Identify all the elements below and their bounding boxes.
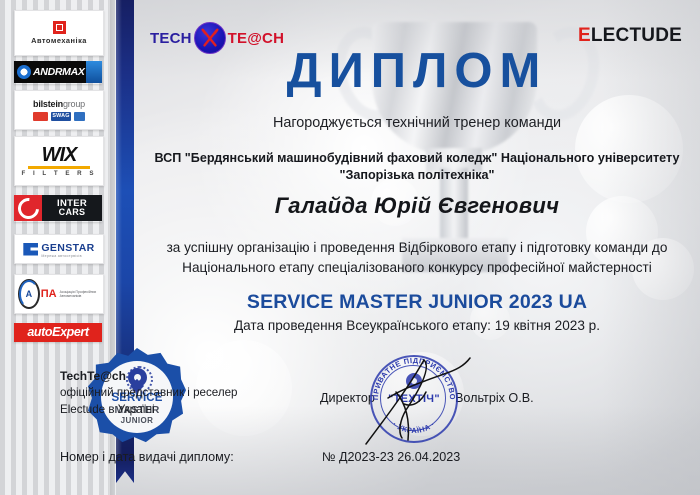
- febi-mark: [33, 112, 48, 121]
- diploma-certificate: Автомеханіка ANDRMAX bilsteingroup SWAG: [0, 0, 700, 495]
- swag-mark: SWAG: [51, 112, 71, 121]
- certificate-subtitle: Нагороджується технічний тренер команди: [134, 115, 700, 131]
- sponsor-label: autoExpert: [27, 325, 88, 339]
- sponsor-logo-genstar: GENSTAR Мережа автосервісів: [14, 234, 104, 264]
- sponsor-sublabel: F I L T E R S: [22, 170, 97, 177]
- gear-icon: [17, 65, 31, 79]
- sponsor-label: CARS: [59, 208, 86, 217]
- sponsor-label-light: group: [63, 99, 85, 109]
- wix-underline: [28, 166, 91, 169]
- sponsor-logo-wix: WIX F I L T E R S: [14, 136, 104, 186]
- event-date: Дата проведення Всеукраїнського етапу: 1…: [134, 318, 700, 333]
- sponsor-label: bilstein: [33, 99, 63, 109]
- institution-name: ВСП "Бердянський машинобудівний фаховий …: [144, 150, 690, 185]
- company-line-2: Electude в Україні: [60, 403, 155, 416]
- certificate-reason: за успішну організацію і проведення Відб…: [154, 238, 680, 278]
- director-name: Вольтріх О.В.: [455, 391, 534, 405]
- sponsor-label: Автомеханіка: [31, 36, 87, 45]
- sponsor-logo-autoexpert: autoExpert: [14, 322, 102, 342]
- sponsor-logo-andrmax: ANDRMAX: [14, 60, 102, 84]
- sponsor-sublabel: Асоціація Професійних Автомеханіків: [60, 290, 100, 299]
- sponsor-logo-apa: А ПА Асоціація Професійних Автомеханіків: [14, 274, 104, 314]
- blueprint-mark: [74, 112, 85, 121]
- genstar-icon: [23, 243, 38, 256]
- svg-text:· УКРАЇНА ·: · УКРАЇНА ·: [391, 420, 437, 435]
- intercars-icon: [14, 195, 42, 221]
- award-name: SERVICE MASTER JUNIOR 2023 UA: [134, 291, 700, 314]
- sponsor-label: ANDRMAX: [33, 66, 85, 78]
- sponsor-label: GENSTAR: [41, 242, 94, 254]
- sponsor-label: WIX: [22, 146, 97, 165]
- stamp-center-text: "ТЕХТІЧ": [370, 393, 458, 405]
- company-stamp: ПРИВАТНЕ ПІДПРИЄМСТВО · УКРАЇНА · "ТЕХТІ…: [370, 355, 458, 443]
- andrmax-accent-bar: [86, 61, 102, 83]
- company-name: TechTe@ch: [60, 369, 126, 383]
- apa-icon: А: [18, 279, 40, 309]
- page-title: ДИПЛОМ: [134, 47, 700, 96]
- sponsor-logo-avtomehanika: Автомеханіка: [14, 10, 104, 56]
- document-number-label: Номер і дата видачі диплому:: [60, 450, 234, 464]
- document-number-value: № Д2023-23 26.04.2023: [322, 450, 460, 464]
- sponsor-logo-intercars: INTER CARS: [14, 194, 102, 222]
- director-label: Директор: [320, 391, 375, 405]
- recipient-name: Галайда Юрій Євгенович: [134, 193, 700, 219]
- company-line-1: офіційний представник і реселер: [60, 386, 237, 399]
- sponsor-logo-bilsteingroup: bilsteingroup SWAG: [14, 90, 104, 130]
- stamp-center-icon: [406, 373, 422, 389]
- company-block: TechTe@ch офіційний представник і реселе…: [60, 368, 237, 418]
- sponsor-label: ПА: [41, 288, 57, 300]
- avtomehanika-icon: [53, 21, 66, 34]
- sponsor-sublabel: Мережа автосервісів: [41, 255, 94, 259]
